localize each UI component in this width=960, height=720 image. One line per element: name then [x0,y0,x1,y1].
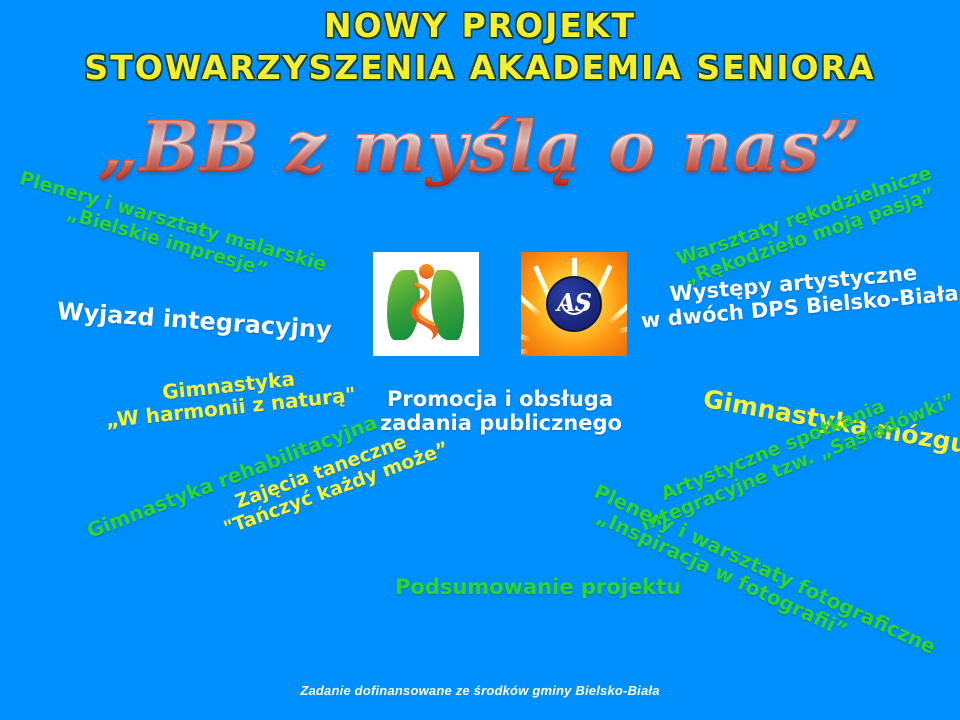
heading-line-2: STOWARZYSZENIA AKADEMIA SENIORA [0,50,960,87]
label-wyjazd-integracyjny: Wyjazd integracyjny [56,298,332,344]
label-promocja-obsluga: Promocja i obsługa zadania publicznego [380,388,620,435]
sun-ray-icon [607,288,627,325]
figure-head-icon [419,264,434,279]
heading-line-1: NOWY PROJEKT [0,8,960,45]
label-plenery-fotograficzne: Plenery i warsztaty fotograficzne „Inspi… [581,480,872,647]
sun-ray-icon [521,348,529,356]
bielsko-biala-logo [373,252,479,356]
label-gimnastyka-natura: Gimnastyka „W harmonii z naturą" [98,361,361,433]
label-podsumowanie-projektu: Podsumowanie projektu [395,576,681,600]
label-promocja-line1: Promocja i obsługa [380,388,620,412]
page-title: „BB z myślą o nas” [0,108,960,186]
logo-row: AS [372,252,628,356]
sun-ray-icon [617,316,627,334]
poster-canvas: NOWY PROJEKT STOWARZYSZENIA AKADEMIA SEN… [0,0,960,720]
figure-body-icon [409,280,443,342]
footer-funding-note: Zadanie dofinansowane ze środków gminy B… [0,684,960,699]
label-promocja-line2: zadania publicznego [380,412,620,436]
akademia-seniora-logo: AS [521,252,627,356]
label-plenery-fotograficzne-line2: „Inspiracja w fotografii” [581,500,862,647]
sun-ray-icon [521,322,531,342]
sun-ray-icon [521,285,541,317]
